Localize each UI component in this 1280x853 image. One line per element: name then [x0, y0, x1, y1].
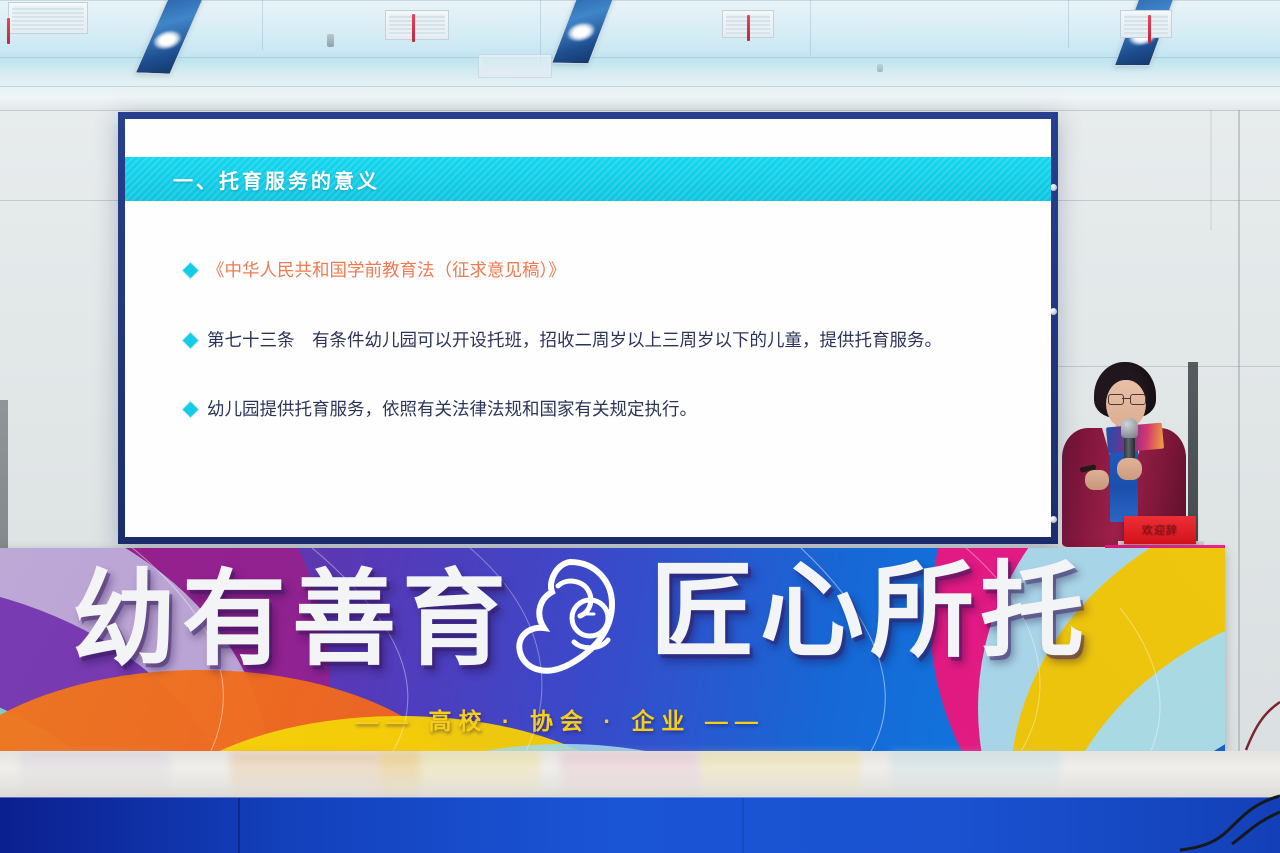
banner-headline-right: 匠心所托	[650, 560, 1090, 664]
stage-front-panel	[0, 797, 1280, 853]
wall-cable	[1196, 700, 1280, 770]
banner-text-layer: 幼有善育 匠心所托 —— 高校 · 协会 · 企业 ——	[0, 0, 1280, 853]
stage-floor-top	[0, 751, 1280, 799]
mother-and-baby-logo-icon	[508, 556, 628, 682]
banner-subtitle: —— 高校 · 协会 · 企业 ——	[0, 702, 1120, 736]
conference-room-scene: 欢迎辞 一、托育服务的意义 《中华人民共和国学前教育法（征求意见稿）》 第七十三…	[0, 0, 1280, 853]
floor-cable	[1120, 790, 1280, 853]
banner-headline-left: 幼有善育	[72, 568, 512, 672]
